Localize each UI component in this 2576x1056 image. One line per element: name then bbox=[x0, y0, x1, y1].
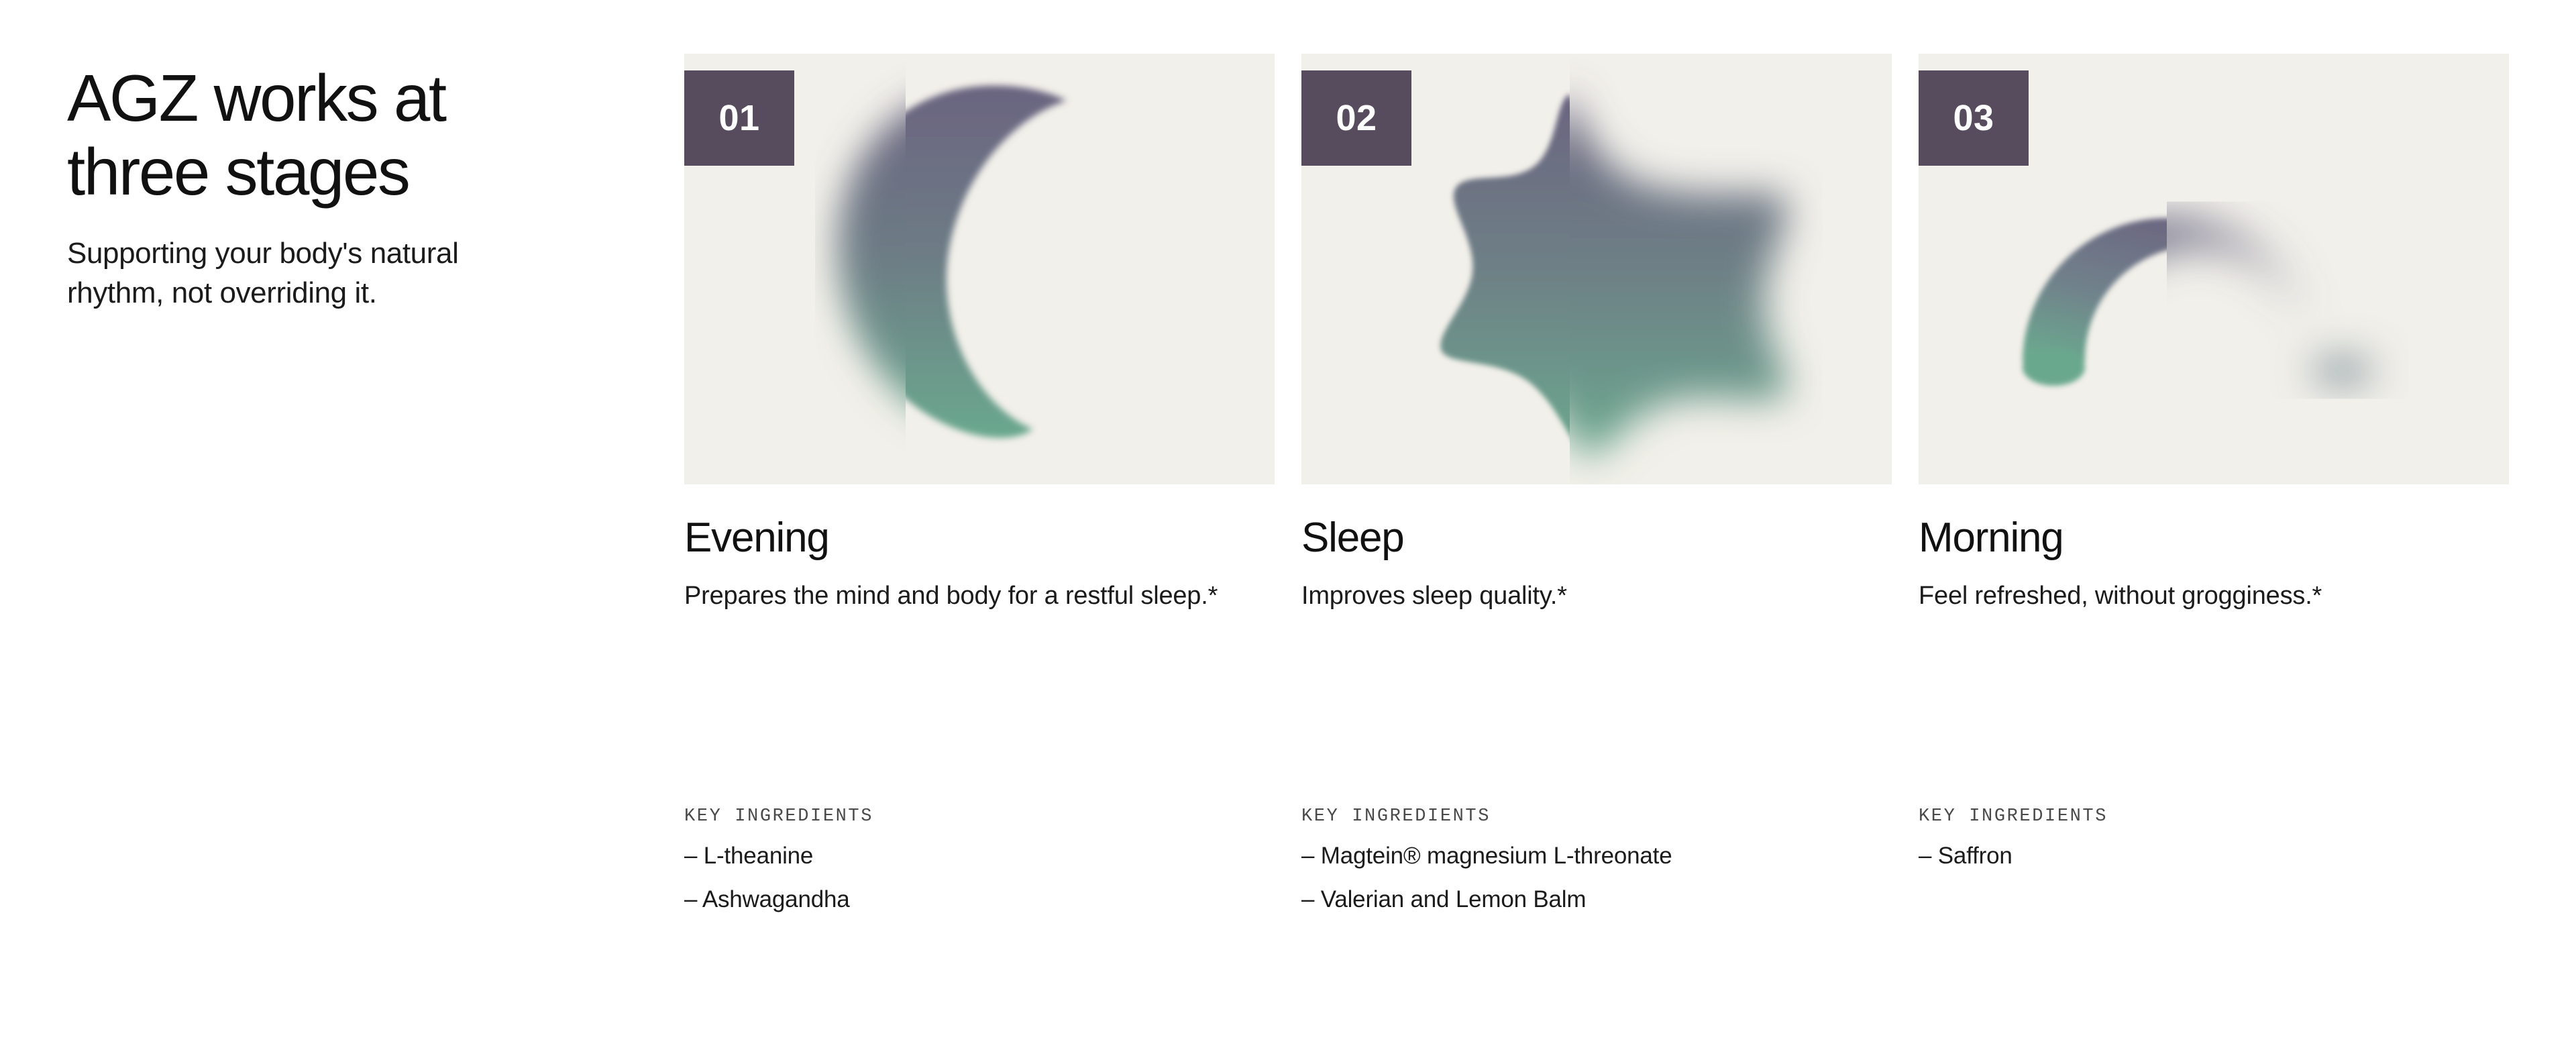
stage-number-badge-02: 02 bbox=[1301, 70, 1411, 166]
card-title-morning: Morning bbox=[1919, 515, 2509, 561]
card-body-morning: Morning Feel refreshed, without groggine… bbox=[1919, 484, 2509, 614]
stage-card-evening[interactable]: 01 Evening Prepares the mind and body fo… bbox=[684, 54, 1275, 614]
page-title: AGZ works at three stages bbox=[67, 62, 657, 209]
card-body-sleep: Sleep Improves sleep quality.* bbox=[1301, 484, 1892, 614]
ingredients-morning: KEY INGREDIENTS – Saffron bbox=[1919, 806, 2509, 867]
card-description-evening: Prepares the mind and body for a restful… bbox=[684, 578, 1221, 613]
ingredients-heading: KEY INGREDIENTS bbox=[1301, 806, 1892, 827]
list-item: – Saffron bbox=[1919, 844, 2509, 867]
list-item: – L-theanine bbox=[684, 844, 1275, 867]
stage-number-badge-03: 03 bbox=[1919, 70, 2029, 166]
page-subtitle: Supporting your body's natural rhythm, n… bbox=[67, 233, 657, 314]
ingredients-evening: KEY INGREDIENTS – L-theanine – Ashwagand… bbox=[684, 806, 1275, 911]
card-body-evening: Evening Prepares the mind and body for a… bbox=[684, 484, 1275, 614]
card-media-morning: 03 bbox=[1919, 54, 2509, 484]
card-media-sleep: 02 bbox=[1301, 54, 1892, 484]
card-description-morning: Feel refreshed, without grogginess.* bbox=[1919, 578, 2455, 613]
ingredients-heading: KEY INGREDIENTS bbox=[1919, 806, 2509, 827]
ingredients-sleep: KEY INGREDIENTS – Magtein® magnesium L-t… bbox=[1301, 806, 1892, 911]
stages-card-list: 01 Evening Prepares the mind and body fo… bbox=[684, 54, 2522, 614]
intro-section: AGZ works at three stages Supporting you… bbox=[67, 62, 657, 313]
list-item: – Magtein® magnesium L-threonate bbox=[1301, 844, 1892, 867]
stage-card-sleep[interactable]: 02 Sleep Improves sleep quality.* KEY IN… bbox=[1301, 54, 1892, 614]
card-title-sleep: Sleep bbox=[1301, 515, 1892, 561]
ingredients-heading: KEY INGREDIENTS bbox=[684, 806, 1275, 827]
list-item: – Valerian and Lemon Balm bbox=[1301, 888, 1892, 911]
list-item: – Ashwagandha bbox=[684, 888, 1275, 911]
stage-number-badge-01: 01 bbox=[684, 70, 794, 166]
stage-card-morning[interactable]: 03 Morning Feel refreshed, without grogg… bbox=[1919, 54, 2509, 614]
card-description-sleep: Improves sleep quality.* bbox=[1301, 578, 1838, 613]
card-media-evening: 01 bbox=[684, 54, 1275, 484]
card-title-evening: Evening bbox=[684, 515, 1275, 561]
